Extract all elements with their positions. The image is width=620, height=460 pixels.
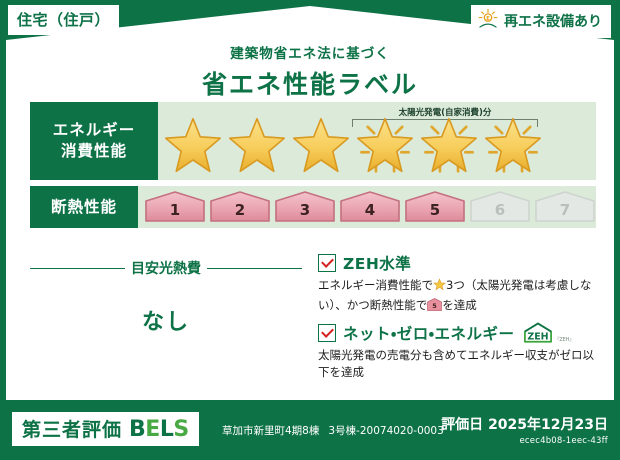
building-type-chip: 住宅（住戸） xyxy=(8,5,119,35)
insulation-performance-label: 断熱性能 xyxy=(30,186,138,228)
insulation-grade-1: 1 xyxy=(144,190,206,224)
evaluation-date-label: 評価日 xyxy=(441,417,483,433)
zeh-standard-description: エネルギー消費性能で 3つ（太陽光発電は考慮しない）、かつ断熱性能で 5 を達成 xyxy=(318,277,596,315)
net-zero-description: 太陽光発電の売電分も含めてエネルギー収支がゼロ以下を達成 xyxy=(318,347,596,383)
zeh-desc-part3: を達成 xyxy=(442,298,477,312)
star-icon xyxy=(433,278,446,297)
svg-text:ZEH: ZEH xyxy=(527,331,548,342)
sun-solar-icon: E xyxy=(477,8,499,34)
zeh-standard-title: ZEH水準 xyxy=(343,252,411,274)
star-icon xyxy=(290,116,352,174)
grade-number: 3 xyxy=(274,201,336,219)
property-address-line: 草加市新里町4期8棟3号棟-20074020-0003 xyxy=(222,423,444,438)
page-title: 省エネ性能ラベル xyxy=(6,65,614,101)
evaluation-date-value: 2025年12月23日 xyxy=(488,417,608,433)
zeh-house-logo-icon: ZEH 『ZEH』 xyxy=(522,322,574,344)
energy-label-line1: エネルギー xyxy=(53,120,136,141)
utility-cost-heading-text: 目安光熱費 xyxy=(131,258,201,278)
insulation-grade-7: 7 xyxy=(534,190,596,224)
utility-cost-value: なし xyxy=(30,304,302,336)
building-number: 3号棟-20074020-0003 xyxy=(328,425,443,437)
label-title-block: 建築物省エネ法に基づく 省エネ性能ラベル xyxy=(6,42,614,101)
grade-badge-icon: 5 xyxy=(427,298,442,310)
renewable-badge-label: 再エネ設備あり xyxy=(504,11,602,31)
heading-rule-left xyxy=(30,268,125,269)
insulation-grade-3: 3 xyxy=(274,190,336,224)
insulation-grade-scale: 1 2 xyxy=(138,187,596,227)
checkmark-icon xyxy=(318,324,336,342)
svg-text:E: E xyxy=(486,16,490,22)
insulation-grade-4: 4 xyxy=(339,190,401,224)
grade-number: 4 xyxy=(339,201,401,219)
net-zero-energy-item: ネット・ゼロ・エネルギー ZEH 『ZEH』 太陽光発電の売電分も含めてエネルギ… xyxy=(318,322,596,383)
energy-performance-row: エネルギー 消費性能 太陽光発電(自家消費)分 xyxy=(30,102,596,180)
insulation-grade-2: 2 xyxy=(209,190,271,224)
star-icon xyxy=(162,116,224,174)
star-icon xyxy=(226,116,288,174)
label-footer: 第三者評価 BELS 草加市新里町4期8棟3号棟-20074020-0003 評… xyxy=(0,404,620,460)
grade-number: 7 xyxy=(534,201,596,219)
zeh-standard-item: ZEH水準 エネルギー消費性能で 3つ（太陽光発電は考慮しない）、かつ断熱性能で… xyxy=(318,252,596,315)
insulation-performance-body: 1 2 xyxy=(138,186,596,228)
utility-cost-heading: 目安光熱費 xyxy=(30,258,302,278)
energy-performance-body: 太陽光発電(自家消費)分 xyxy=(158,102,596,180)
grade-number: 6 xyxy=(469,201,531,219)
energy-performance-label: 建築物省エネ法に基づく 省エネ性能ラベル エネルギー 消費性能 太陽光発電(自家… xyxy=(0,0,620,460)
insulation-grade-5: 5 xyxy=(404,190,466,224)
zeh-logo-sub: 『ZEH』 xyxy=(555,336,574,344)
renewable-equipment-badge: E 再エネ設備あり xyxy=(471,5,611,38)
label-body: 建築物省エネ法に基づく 省エネ性能ラベル エネルギー 消費性能 太陽光発電(自家… xyxy=(6,6,614,400)
net-zero-title-row: ネット・ゼロ・エネルギー ZEH 『ZEH』 xyxy=(318,322,596,344)
grade-number: 2 xyxy=(209,201,271,219)
zeh-standard-title-row: ZEH水準 xyxy=(318,252,596,274)
bels-logo-text: BELS xyxy=(129,417,189,442)
net-zero-title: ネット・ゼロ・エネルギー xyxy=(343,322,515,344)
evaluation-date-line: 評価日 2025年12月23日 xyxy=(441,414,608,434)
bels-jp-label: 第三者評価 xyxy=(22,415,122,442)
checkmark-icon xyxy=(318,254,336,272)
heading-rule-right xyxy=(207,268,302,269)
solar-star-icon xyxy=(418,116,480,174)
insulation-grade-6: 6 xyxy=(469,190,531,224)
insulation-performance-row: 断熱性能 1 xyxy=(30,186,596,228)
lower-section: 目安光熱費 なし ZEH水準 エネルギー消費性能で 3つ（太陽光発電は考慮しない… xyxy=(30,252,596,389)
zeh-desc-part1: エネルギー消費性能で xyxy=(318,278,433,292)
energy-label-line2: 消費性能 xyxy=(61,141,127,162)
evaluation-date-block: 評価日 2025年12月23日 ecec4b08-1eec-43ff xyxy=(441,414,608,446)
grade-number: 5 xyxy=(404,201,466,219)
grade-number: 1 xyxy=(144,201,206,219)
bels-certification-mark: 第三者評価 BELS xyxy=(12,412,199,446)
certificate-code: ecec4b08-1eec-43ff xyxy=(441,436,608,446)
svg-text:5: 5 xyxy=(432,302,437,310)
insulation-label-text: 断熱性能 xyxy=(51,197,117,218)
zeh-panel: ZEH水準 エネルギー消費性能で 3つ（太陽光発電は考慮しない）、かつ断熱性能で… xyxy=(302,252,596,389)
property-address: 草加市新里町4期8棟 xyxy=(222,425,319,437)
utility-cost-panel: 目安光熱費 なし xyxy=(30,252,302,389)
solar-star-icon xyxy=(482,116,544,174)
energy-performance-label: エネルギー 消費性能 xyxy=(30,102,158,180)
performance-rows: エネルギー 消費性能 太陽光発電(自家消費)分 xyxy=(30,102,596,234)
label-header: 住宅（住戸） E 再エネ設備あり xyxy=(0,0,620,46)
solar-star-icon xyxy=(354,116,416,174)
